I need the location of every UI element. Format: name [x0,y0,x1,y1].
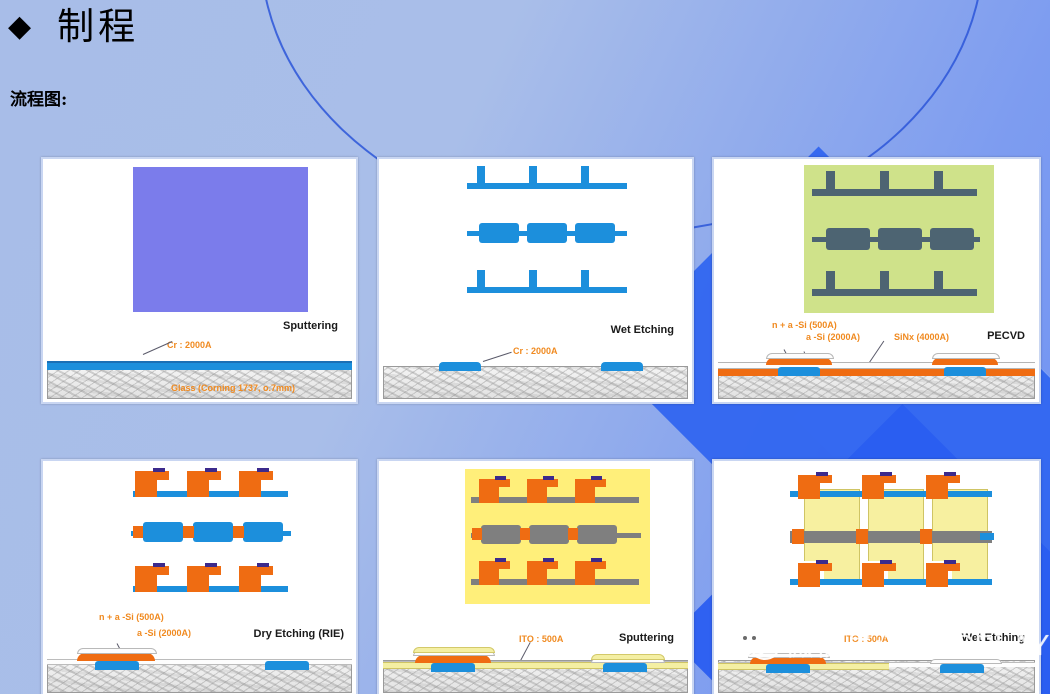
gate-electrode [439,362,481,371]
pixel-array-plan-view [784,469,999,611]
panel-1-cross-section: Glass (Corning 1737, o.7mm) [43,346,356,402]
tft-bump [932,354,998,376]
process-panel-2[interactable]: Wet Etching Cr : 2000A [377,157,694,404]
section-subtitle: 流程图: [10,85,67,110]
gate-electrode [601,362,643,371]
panel-3-nasi-label: n + a -Si (500A) [772,320,837,330]
slide-title-row: ◆ 制程 [8,8,139,45]
cr-metal-film [47,361,352,370]
source-drain-plan-view [43,461,356,606]
panel-1-glass-label: Glass (Corning 1737, o.7mm) [171,383,295,393]
tft-island [748,649,828,673]
panel-1-process-label: Sputtering [283,320,338,332]
gate-pattern-plan-view [379,159,692,309]
panel-5-cross-section [379,642,692,694]
panel-4-asi-label: a -Si (2000A) [137,628,191,638]
process-panel-5[interactable]: ITO : 500A Sputtering [377,459,694,694]
slide-canvas: ◆ 制程 流程图: Sputtering Cr : 2000A Glass (C… [0,0,1050,694]
process-panel-1[interactable]: Sputtering Cr : 2000A Glass (Corning 173… [41,157,358,404]
process-panel-3[interactable]: n + a -Si (500A) a -Si (2000A) SiNx (400… [712,157,1041,404]
panel-6-ito-label: ITO : 500A [844,634,888,644]
process-panel-6[interactable]: ITO : 500A Wet Etching [712,459,1041,694]
panel-6-cross-section [714,644,1039,694]
tft-island [413,646,493,672]
panel-2-process-label: Wet Etching [611,324,674,336]
tft-island [591,652,663,672]
tft-bump [766,354,832,376]
tft-island [77,646,155,670]
panel-4-cross-section [43,638,356,694]
page-title: 制程 [57,8,139,45]
panel-6-process-label: Wet Etching [962,632,1025,644]
diamond-bullet-icon: ◆ [8,12,31,42]
pecvd-plan-view [804,165,994,313]
tft-island [930,655,1000,673]
process-panel-4[interactable]: n + a -Si (500A) a -Si (2000A) Dry Etchi… [41,459,358,694]
panel-3-cross-section [714,340,1039,402]
panel-2-cross-section [379,346,692,402]
ito-sputter-plan-view [465,469,650,604]
tft-island [257,654,317,670]
sputter-target-plan-view [133,167,308,312]
panel-4-nasi-label: n + a -Si (500A) [99,612,164,622]
